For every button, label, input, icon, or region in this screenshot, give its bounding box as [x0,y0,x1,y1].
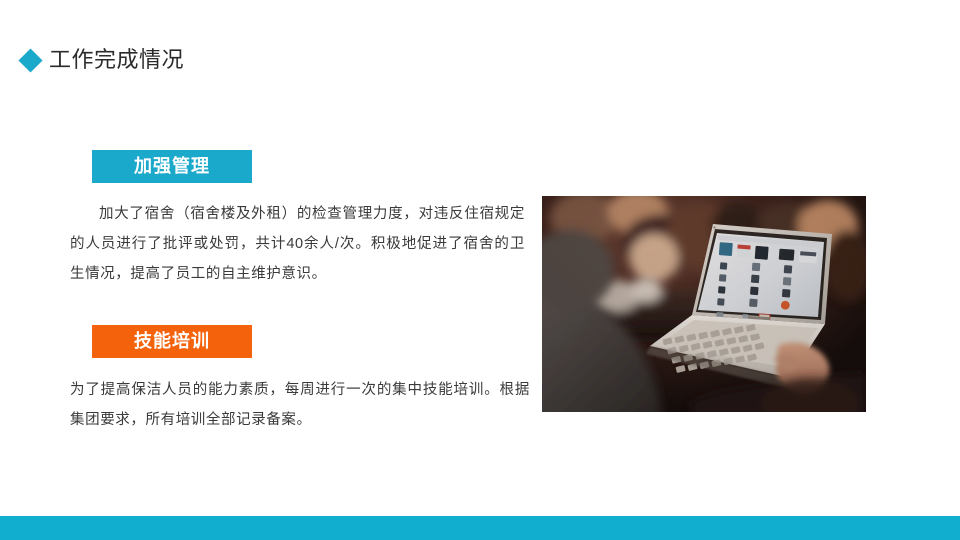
presentation-slide: 工作完成情况 加强管理 加大了宿舍（宿舍楼及外租）的检查管理力度，对违反住宿规定… [0,0,960,540]
photo-laptop-meeting [542,196,866,412]
section-badge-management: 加强管理 [92,150,252,183]
content-block-management: 加强管理 加大了宿舍（宿舍楼及外租）的检查管理力度，对违反住宿规定的人员进行了批… [70,150,540,289]
photo-illustration [542,196,866,412]
paragraph-training: 为了提高保洁人员的能力素质，每周进行一次的集中技能培训。根据集团要求，所有培训全… [70,375,530,435]
slide-header: 工作完成情况 [22,47,184,73]
page-title: 工作完成情况 [49,47,184,73]
section-badge-training: 技能培训 [92,325,252,358]
content-column: 加强管理 加大了宿舍（宿舍楼及外租）的检查管理力度，对违反住宿规定的人员进行了批… [70,150,540,435]
diamond-icon [18,48,42,72]
bottom-accent-bar [0,516,960,540]
content-block-training: 技能培训 为了提高保洁人员的能力素质，每周进行一次的集中技能培训。根据集团要求，… [70,325,540,435]
paragraph-management: 加大了宿舍（宿舍楼及外租）的检查管理力度，对违反住宿规定的人员进行了批评或处罚，… [70,199,525,289]
